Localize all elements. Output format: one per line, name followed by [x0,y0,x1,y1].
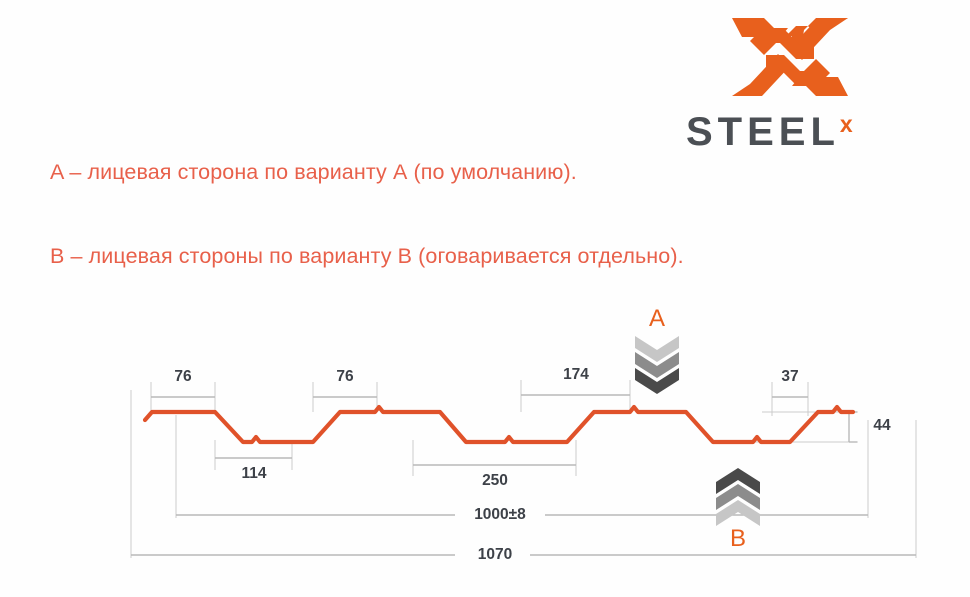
description-variant-b: B – лицевая стороны по варианту B (огова… [50,244,684,269]
dimension-label-37: 37 [760,368,820,386]
marker-b-label: B [718,525,758,553]
wordmark-steel: STEEL [686,110,840,154]
dimension-label-76-left: 76 [153,368,213,386]
dimension-label-114: 114 [224,465,284,483]
dimension-label-250: 250 [465,472,525,490]
corrugated-profile-line [145,407,853,442]
brand-wordmark: STEELx [686,110,902,152]
drawing-page: STEELx A – лицевая сторона по варианту А… [0,0,970,597]
dimension-label-44: 44 [862,417,902,435]
marker-b-chevrons-icon [713,466,763,528]
dimension-label-1070: 1070 [455,546,535,564]
wordmark-superscript-x: x [840,111,853,137]
profile-technical-drawing: 76 76 174 37 44 114 250 1000±8 1070 [0,290,970,590]
dimension-label-174: 174 [546,366,606,384]
marker-a-chevrons-icon [632,334,682,396]
brand-logo: STEELx [686,14,902,150]
dimension-label-76-mid: 76 [315,368,375,386]
description-variant-a: A – лицевая сторона по варианту А (по ум… [50,160,577,185]
marker-a-label: A [637,305,677,333]
steelx-x-monogram-icon [730,14,850,100]
dimension-label-1000: 1000±8 [450,506,550,524]
